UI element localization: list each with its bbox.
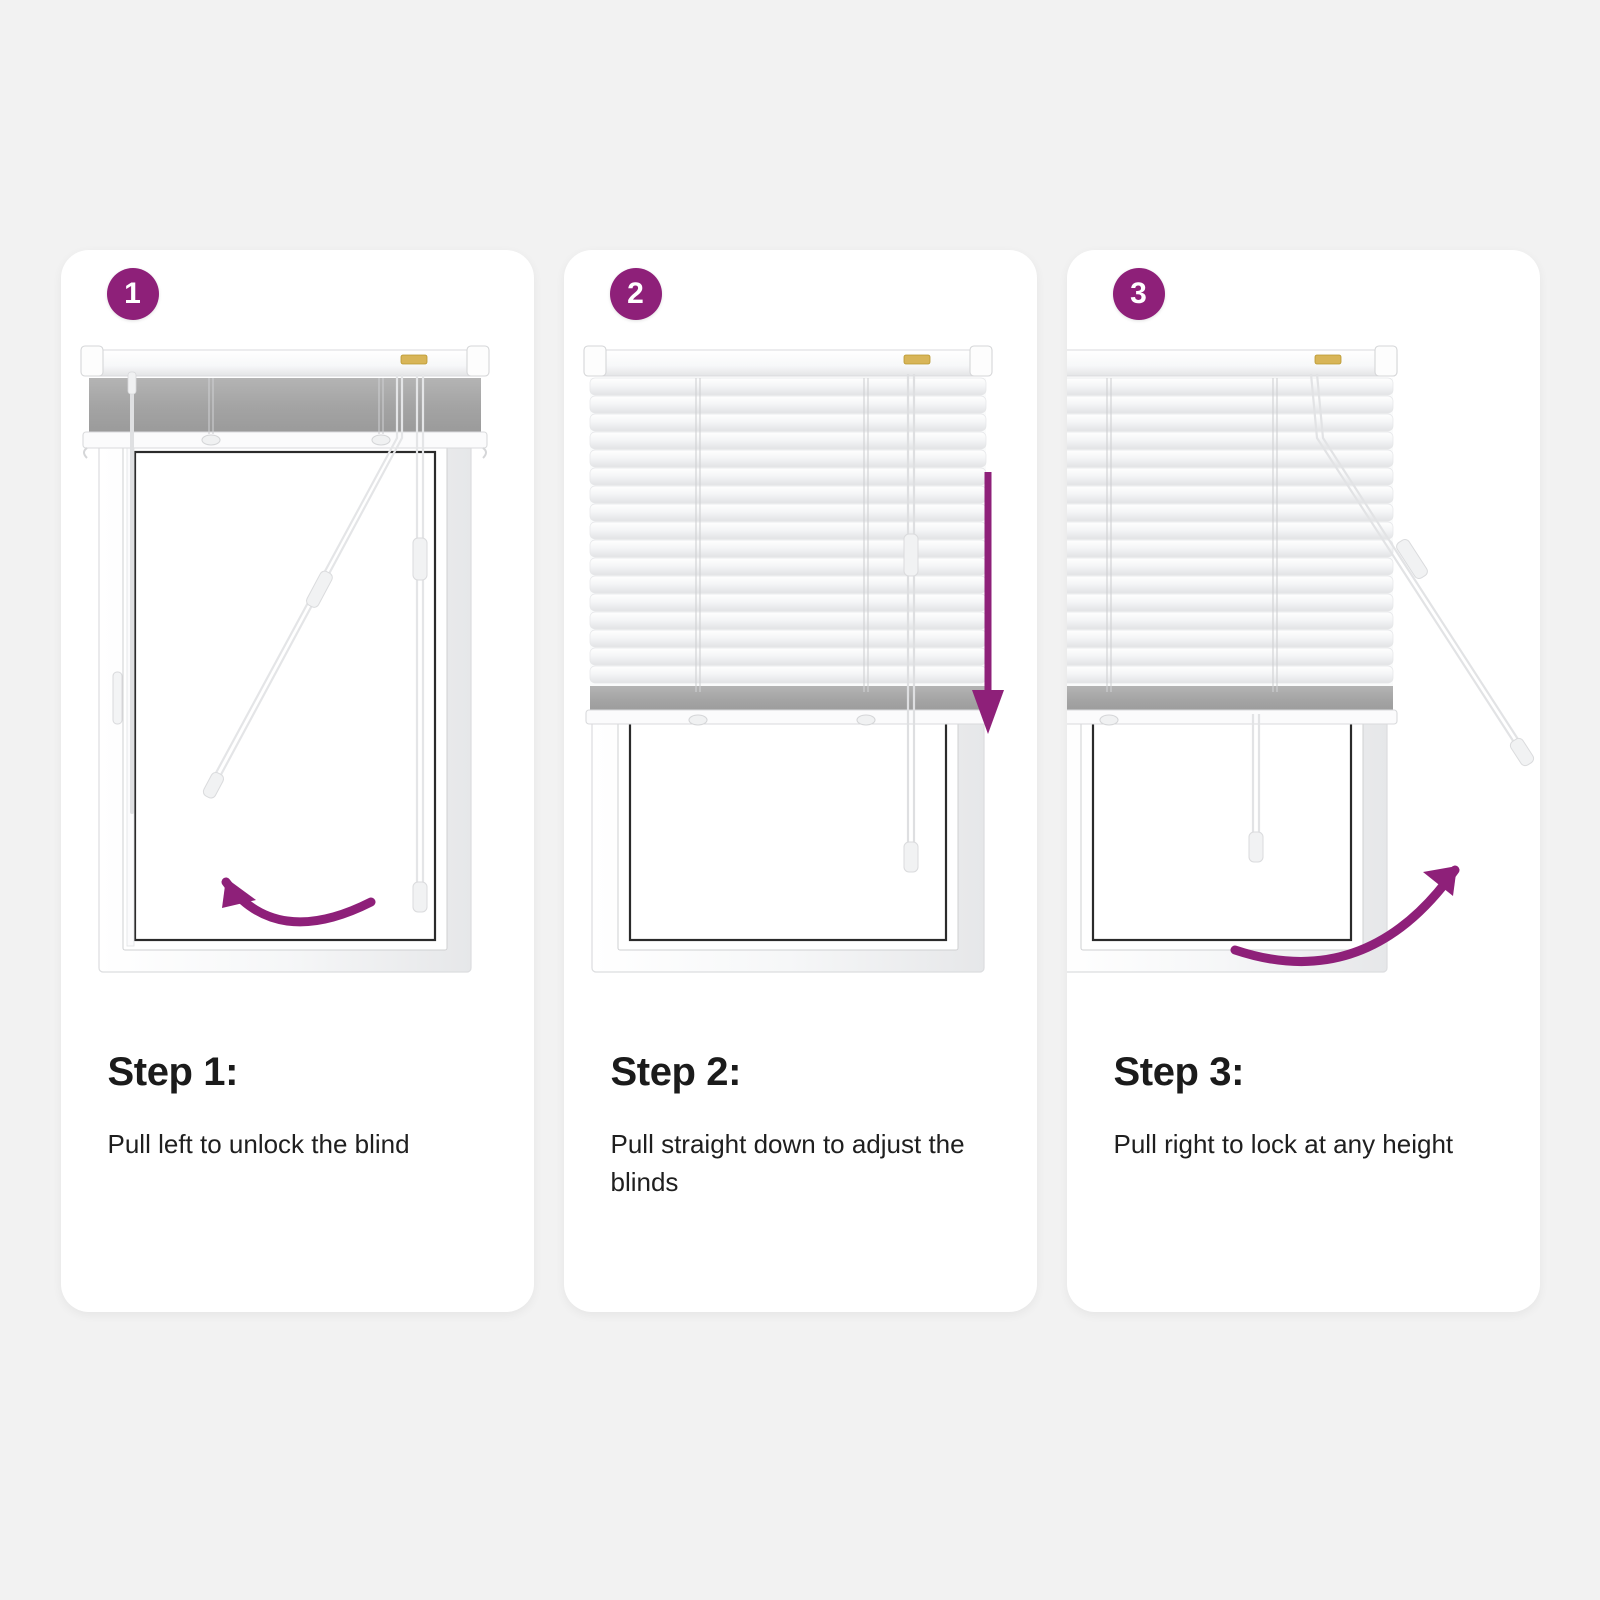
step-illustration-2 [564,342,1037,1042]
step-number-badge-3: 3 [1113,268,1165,320]
step-card-2: 2 [564,250,1037,1312]
step-text-block-2: Step 2: Pull straight down to adjust the… [611,1050,1011,1201]
blind-headrail-2 [584,346,992,376]
steps-card-row: 1 [0,250,1600,1312]
blind-bottom-rail-2 [586,686,990,724]
step-illustration-3 [1067,342,1540,1042]
step-number-badge-1: 1 [107,268,159,320]
step-description-2: Pull straight down to adjust the blinds [611,1126,1011,1201]
step-card-3: 3 [1067,250,1540,1312]
step-description-1: Pull left to unlock the blind [108,1126,508,1164]
blind-slats-3 [1067,378,1393,698]
step-illustration-1 [61,342,534,1042]
instruction-graphic: 1 [0,0,1600,1600]
step-text-block-3: Step 3: Pull right to lock at any height [1114,1050,1514,1164]
blind-slats-2 [590,378,986,698]
step-text-block-1: Step 1: Pull left to unlock the blind [108,1050,508,1164]
step-title-1: Step 1: [108,1050,508,1094]
step-number-badge-2: 2 [610,268,662,320]
step-card-1: 1 [61,250,534,1312]
step-title-2: Step 2: [611,1050,1011,1094]
step-description-3: Pull right to lock at any height [1114,1126,1514,1164]
blind-headrail-1 [81,346,489,458]
step-title-3: Step 3: [1114,1050,1514,1094]
blind-headrail-3 [1067,346,1397,376]
